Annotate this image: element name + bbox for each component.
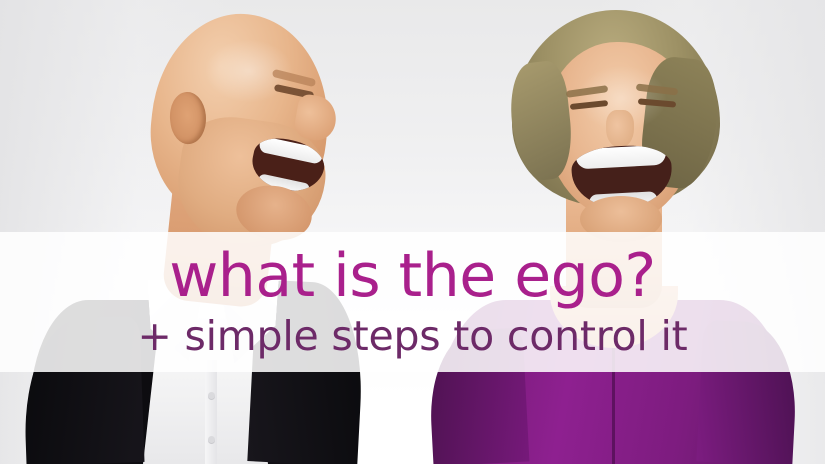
man-shirt-placket — [205, 360, 217, 464]
woman-upper-teeth — [575, 145, 666, 170]
woman-nose — [606, 110, 634, 148]
title-banner: what is the ego? + simple steps to contr… — [0, 232, 825, 372]
man-shirt-button — [208, 436, 215, 443]
banner-title: what is the ego? — [169, 246, 656, 306]
banner-subtitle: + simple steps to control it — [137, 316, 687, 357]
man-shirt-button — [208, 392, 215, 399]
video-thumbnail: what is the ego? + simple steps to contr… — [0, 0, 825, 464]
man-nose — [292, 93, 339, 143]
